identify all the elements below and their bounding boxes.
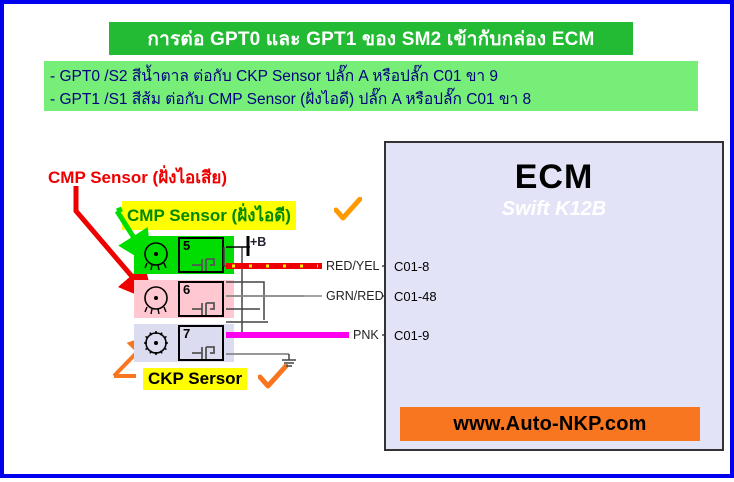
check-mark-icon-intake [334, 197, 362, 223]
page-title-bar: การต่อ GPT0 และ GPT1 ของ SM2 เข้ากับกล่อ… [109, 22, 633, 55]
cmp-intake-label: CMP Sensor (ฝั่งไอดี) [122, 201, 296, 230]
sensor-block-7: 7 [134, 324, 234, 362]
connector-symbol [180, 239, 226, 275]
ecm-title: ECM [386, 158, 722, 197]
note-line-2: - GPT1 /S1 สีส้ม ต่อกับ CMP Sensor (ฝั่ง… [50, 88, 692, 111]
pin-label-c01-8: C01-8 [394, 259, 429, 274]
wire-label-grn-red: GRN/RED [326, 289, 384, 303]
note-line-1: - GPT0 /S2 สีน้ำตาล ต่อกับ CKP Sensor ปล… [50, 65, 692, 88]
poster-canvas: การต่อ GPT0 และ GPT1 ของ SM2 เข้ากับกล่อ… [0, 0, 734, 478]
sensor-block-5: 5 [134, 236, 234, 274]
check-mark-icon-ckp [258, 364, 288, 391]
pickup-coil-icon [140, 283, 172, 315]
connector-symbol [180, 327, 226, 363]
website-url: www.Auto-NKP.com [453, 413, 646, 436]
connector-box-6: 6 [178, 281, 224, 317]
toothed-wheel-icon [140, 327, 172, 359]
supply-label: +B [250, 235, 266, 249]
note-box: - GPT0 /S2 สีน้ำตาล ต่อกับ CKP Sensor ปล… [44, 61, 698, 111]
ckp-sensor-label: CKP Sersor [143, 368, 247, 390]
cmp-exhaust-label: CMP Sensor (ฝั่งไอเสีย) [48, 164, 227, 191]
pickup-coil-icon [140, 239, 172, 271]
pin-label-c01-9: C01-9 [394, 328, 429, 343]
sensor-block-6: 6 [134, 280, 234, 318]
wire-label-pnk: PNK [353, 328, 379, 342]
wire-label-red-yel: RED/YEL [326, 259, 380, 273]
connector-box-5: 5 [178, 237, 224, 273]
page-title: การต่อ GPT0 และ GPT1 ของ SM2 เข้ากับกล่อ… [147, 24, 594, 54]
connector-box-7: 7 [178, 325, 224, 361]
ecm-subtitle: Swift K12B [386, 198, 722, 221]
connector-symbol [180, 283, 226, 319]
website-banner[interactable]: www.Auto-NKP.com [400, 407, 700, 441]
pin-label-c01-48: C01-48 [394, 289, 437, 304]
